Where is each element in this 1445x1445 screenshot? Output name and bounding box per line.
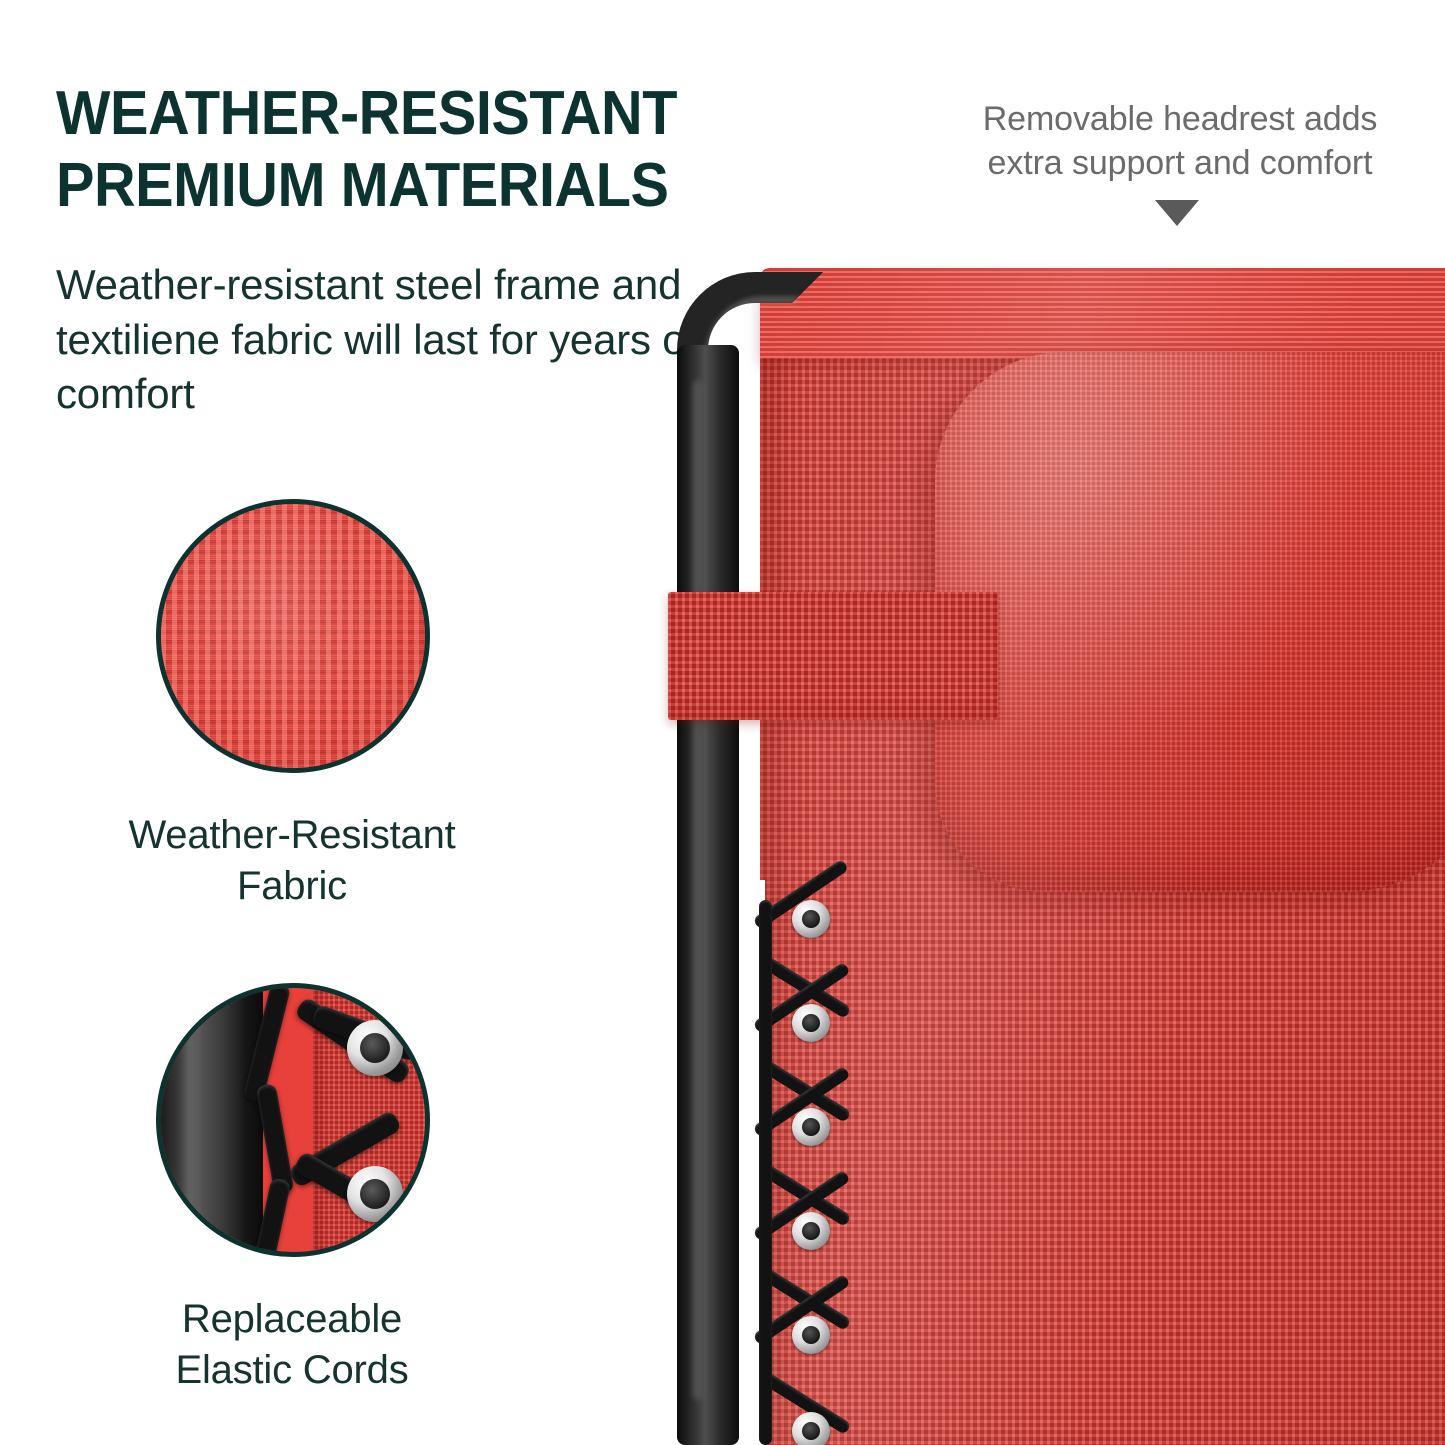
feature-caption-fabric: Weather-Resistant Fabric [62,810,522,912]
frame-tube-detail-icon [156,983,263,1257]
grommet-icon [792,1108,830,1146]
feature-circle-weather-resistant-fabric [156,499,430,773]
grommet-icon [792,900,830,938]
grommet-icon [347,1166,403,1222]
caption-cords-line-2: Elastic Cords [62,1345,522,1396]
frame-tube-highlight [693,380,705,1400]
grommet-icon [792,1004,830,1042]
headrest-weave-texture [935,352,1445,892]
caption-cords-line-1: Replaceable [62,1294,522,1345]
grommet-icon [792,1212,830,1250]
sling-top-fold [760,268,1445,358]
swatch-shading-overlay [161,504,425,768]
caption-fabric-line-1: Weather-Resistant [62,810,522,861]
elastic-lace-cord-vertical [759,900,772,1445]
fabric-strap-band [668,592,998,720]
product-photo [660,0,1445,1445]
feature-circle-replaceable-elastic-cords [156,983,430,1257]
grommet-icon [347,1020,403,1076]
grommet-icon [792,1316,830,1354]
steel-frame-tube [677,345,739,1445]
feature-caption-cords: Replaceable Elastic Cords [62,1294,522,1396]
removable-headrest-pillow [935,352,1445,892]
caption-fabric-line-2: Fabric [62,861,522,912]
subheading-text: Weather-resistant steel frame and textil… [56,258,706,422]
product-feature-panel: WEATHER-RESISTANT PREMIUM MATERIALS Weat… [0,0,1445,1445]
grommet-icon [792,1412,830,1445]
